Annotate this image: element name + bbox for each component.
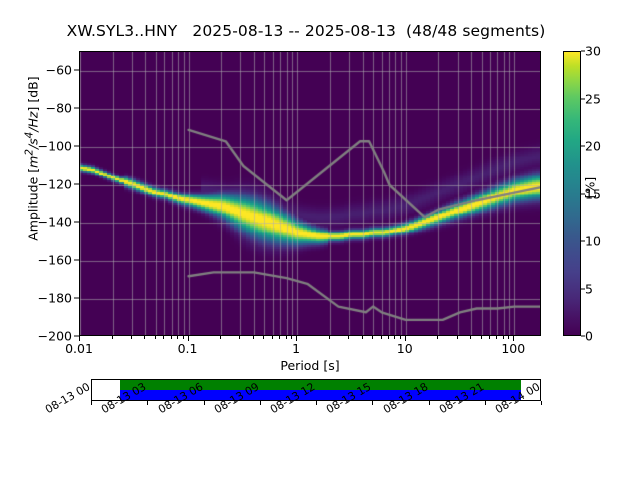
y-axis-tick--140: −140 bbox=[8, 215, 72, 230]
x-axis-tickmark-minor bbox=[496, 336, 497, 339]
y-axis-tick--80: −80 bbox=[8, 101, 72, 116]
y-axis-tick--100: −100 bbox=[8, 139, 72, 154]
colorbar-tickmark bbox=[581, 288, 585, 289]
x-axis-tickmark-major bbox=[296, 336, 297, 341]
colorbar-tickmark bbox=[581, 336, 585, 337]
x-axis-tickmark-minor bbox=[489, 336, 490, 339]
x-axis-tick-100: 100 bbox=[478, 341, 548, 356]
y-axis-tickmark bbox=[74, 260, 79, 261]
ppsd-plot-area[interactable] bbox=[79, 51, 541, 336]
x-axis-tickmark-minor bbox=[144, 336, 145, 339]
colorbar-tick-5: 5 bbox=[585, 281, 593, 296]
x-axis-tickmark-minor bbox=[177, 336, 178, 339]
x-axis-tickmark-minor bbox=[394, 336, 395, 339]
x-axis-tickmark-minor bbox=[400, 336, 401, 339]
colorbar-tick-20: 20 bbox=[585, 139, 601, 154]
x-axis-tick-0.01: 0.01 bbox=[44, 341, 114, 356]
x-axis-tickmark-minor bbox=[457, 336, 458, 339]
x-axis-tickmark-minor bbox=[220, 336, 221, 339]
colorbar-tickmark bbox=[581, 241, 585, 242]
timeline-tick-label: 08-13 00 bbox=[43, 380, 92, 416]
x-axis-tickmark-minor bbox=[503, 336, 504, 339]
x-axis-tickmark-minor bbox=[508, 336, 509, 339]
x-axis-tickmark-major bbox=[188, 336, 189, 341]
x-axis-tickmark-minor bbox=[279, 336, 280, 339]
colorbar-tickmark bbox=[581, 146, 585, 147]
timeline-tickmark bbox=[260, 401, 261, 405]
x-axis-tickmark-minor bbox=[253, 336, 254, 339]
y-axis-tickmark bbox=[74, 222, 79, 223]
x-axis-tickmark-minor bbox=[291, 336, 292, 339]
x-axis-tickmark-minor bbox=[329, 336, 330, 339]
noise-model-curves bbox=[80, 52, 541, 336]
colorbar-tickmark bbox=[581, 193, 585, 194]
timeline-tickmark bbox=[485, 401, 486, 405]
figure-title: XW.SYL3..HNY 2025-08-13 -- 2025-08-13 (4… bbox=[0, 22, 612, 40]
y-axis-tick--120: −120 bbox=[8, 177, 72, 192]
colorbar-tick-0: 0 bbox=[585, 329, 593, 344]
x-axis-tickmark-minor bbox=[112, 336, 113, 339]
x-axis-tickmark-minor bbox=[263, 336, 264, 339]
x-axis-tick-0.1: 0.1 bbox=[153, 341, 223, 356]
x-axis-tickmark-minor bbox=[362, 336, 363, 339]
timeline-tickmark bbox=[429, 401, 430, 405]
colorbar-tick-25: 25 bbox=[585, 91, 601, 106]
x-axis-tickmark-minor bbox=[183, 336, 184, 339]
y-axis-tickmark bbox=[74, 70, 79, 71]
x-axis-tickmark-minor bbox=[470, 336, 471, 339]
x-axis-tickmark-major bbox=[79, 336, 80, 341]
x-axis-tick-1: 1 bbox=[261, 341, 331, 356]
timeline-tickmark bbox=[541, 401, 542, 405]
x-axis-tickmark-minor bbox=[372, 336, 373, 339]
colorbar-tick-10: 10 bbox=[585, 234, 601, 249]
timeline-tickmark bbox=[204, 401, 205, 405]
x-axis-tickmark-minor bbox=[286, 336, 287, 339]
ppsd-figure: XW.SYL3..HNY 2025-08-13 -- 2025-08-13 (4… bbox=[0, 0, 640, 480]
x-axis-tickmark-minor bbox=[348, 336, 349, 339]
colorbar-tickmark bbox=[581, 98, 585, 99]
x-axis-tickmark-minor bbox=[437, 336, 438, 339]
x-axis-tick-10: 10 bbox=[370, 341, 440, 356]
x-axis-tickmark-minor bbox=[381, 336, 382, 339]
x-axis-tickmark-major bbox=[405, 336, 406, 341]
timeline-tickmark bbox=[316, 401, 317, 405]
colorbar-tick-30: 30 bbox=[585, 44, 601, 59]
y-axis-tick--60: −60 bbox=[8, 63, 72, 78]
x-axis-tickmark-minor bbox=[272, 336, 273, 339]
y-axis-tickmark bbox=[74, 146, 79, 147]
x-axis-tickmark-minor bbox=[163, 336, 164, 339]
y-axis-tickmark bbox=[74, 108, 79, 109]
y-axis-tickmark bbox=[74, 298, 79, 299]
x-axis-tickmark-minor bbox=[171, 336, 172, 339]
coverage-band-green bbox=[120, 380, 521, 390]
colorbar-tickmark bbox=[581, 51, 585, 52]
y-axis-tick--160: −160 bbox=[8, 253, 72, 268]
timeline-tickmark bbox=[147, 401, 148, 405]
y-axis-tickmark bbox=[74, 184, 79, 185]
colorbar-tick-15: 15 bbox=[585, 186, 601, 201]
x-axis-tickmark-minor bbox=[155, 336, 156, 339]
x-axis-tickmark-minor bbox=[388, 336, 389, 339]
x-axis-tickmark-minor bbox=[481, 336, 482, 339]
timeline-tickmark bbox=[91, 401, 92, 405]
x-axis-label: Period [s] bbox=[79, 358, 541, 373]
colorbar bbox=[563, 51, 581, 336]
timeline-tickmark bbox=[372, 401, 373, 405]
y-axis-tick--180: −180 bbox=[8, 291, 72, 306]
x-axis-tickmark-minor bbox=[131, 336, 132, 339]
x-axis-tickmark-major bbox=[513, 336, 514, 341]
x-axis-tickmark-minor bbox=[239, 336, 240, 339]
